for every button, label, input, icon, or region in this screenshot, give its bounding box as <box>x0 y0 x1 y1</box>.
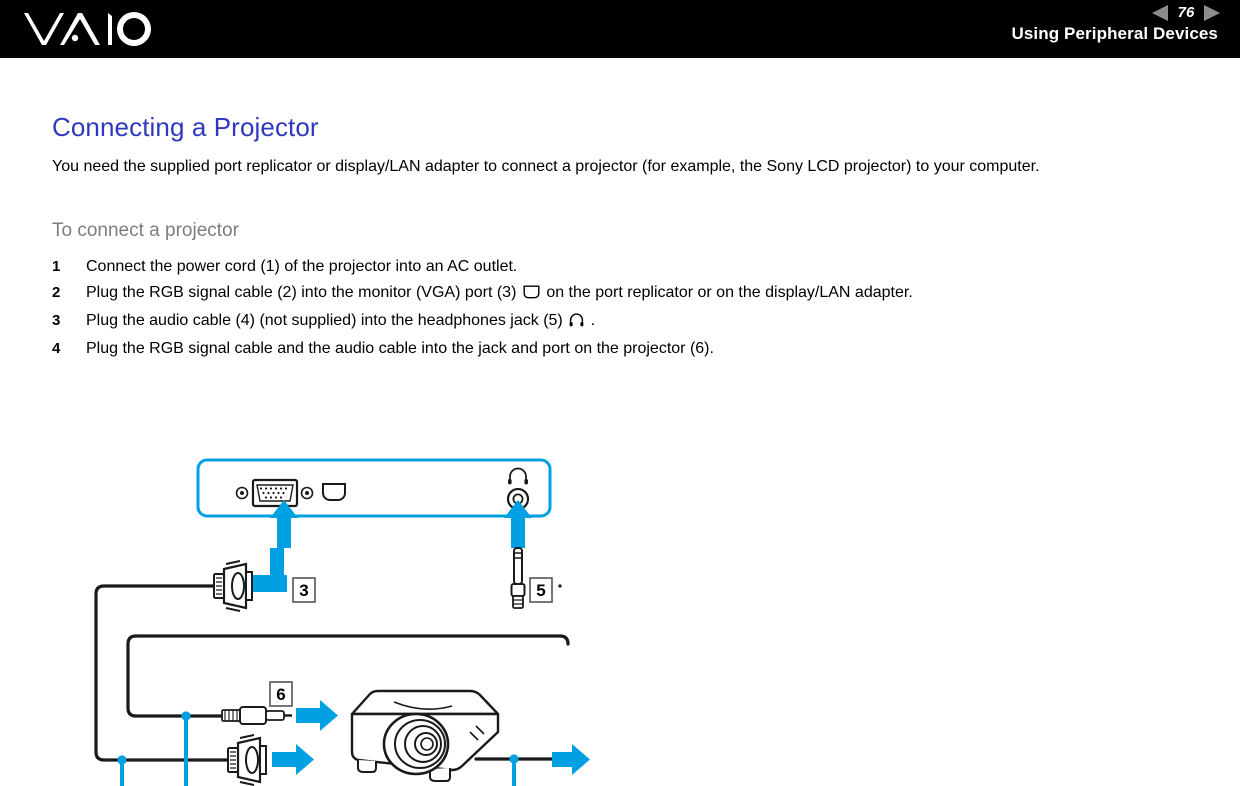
step-text-after: . <box>591 312 595 329</box>
callout-label-3: 3 <box>299 581 308 600</box>
callout-6: 6 <box>270 682 292 706</box>
step-number: 1 <box>52 254 64 279</box>
step-text: Connect the power cord (1) of the projec… <box>86 254 517 279</box>
port-replicator <box>198 460 550 516</box>
power-cord <box>476 744 590 775</box>
step-text: Plug the RGB signal cable (2) into the m… <box>86 280 913 307</box>
headphones-icon <box>569 310 584 335</box>
step-number: 3 <box>52 308 64 333</box>
step-item: 3 Plug the audio cable (4) (not supplied… <box>52 308 1202 335</box>
procedure-steps: 1 Connect the power cord (1) of the proj… <box>52 254 1202 362</box>
monitor-port-icon <box>523 282 540 307</box>
step-text: Plug the audio cable (4) (not supplied) … <box>86 308 595 335</box>
audio-cable-plug-projector <box>222 707 292 724</box>
page-number: 76 <box>1176 4 1196 22</box>
connection-diagram: 3 5 6 2 4 <box>0 388 1240 786</box>
page-navigation[interactable]: 76 <box>1152 2 1220 24</box>
rgb-cable-vga-connector-top <box>214 561 252 611</box>
header-title: Using Peripheral Devices <box>1012 24 1219 44</box>
intro-paragraph: You need the supplied port replicator or… <box>52 156 1192 178</box>
page-content: Connecting a Projector You need the supp… <box>0 58 1240 786</box>
callout-5: 5 <box>530 578 552 602</box>
page-title: Connecting a Projector <box>52 112 319 143</box>
triangle-right-icon[interactable] <box>1204 5 1220 21</box>
projector-lens <box>384 714 448 774</box>
vaio-logo <box>22 8 162 50</box>
page-header: 76 Using Peripheral Devices <box>0 0 1240 58</box>
intro-line-1: You need the supplied port replicator or… <box>52 158 929 175</box>
triangle-left-icon[interactable] <box>1152 5 1168 21</box>
procedure-subheading: To connect a projector <box>52 220 239 242</box>
rgb-cable-vga-connector-bottom <box>228 735 266 785</box>
projector-vga-arrow <box>272 744 314 775</box>
intro-line-2: your computer. <box>934 158 1040 175</box>
audio-plug-top <box>512 548 525 608</box>
callout-3: 3 <box>293 578 315 602</box>
step-number: 2 <box>52 280 64 305</box>
step-item: 1 Connect the power cord (1) of the proj… <box>52 254 1202 279</box>
step-text-before: Plug the audio cable (4) (not supplied) … <box>86 312 563 329</box>
step-text-before: Plug the RGB signal cable (2) into the m… <box>86 284 516 301</box>
callout-label-6: 6 <box>276 685 285 704</box>
step-item: 2 Plug the RGB signal cable (2) into the… <box>52 280 1202 307</box>
callout-label-5: 5 <box>536 581 545 600</box>
step-item: 4 Plug the RGB signal cable and the audi… <box>52 336 1202 361</box>
step-number: 4 <box>52 336 64 361</box>
step-text: Plug the RGB signal cable and the audio … <box>86 336 714 361</box>
step-text-after: on the port replicator or on the display… <box>546 284 912 301</box>
projector-audio-arrow <box>296 700 338 731</box>
callout-4: 4 <box>175 711 197 786</box>
